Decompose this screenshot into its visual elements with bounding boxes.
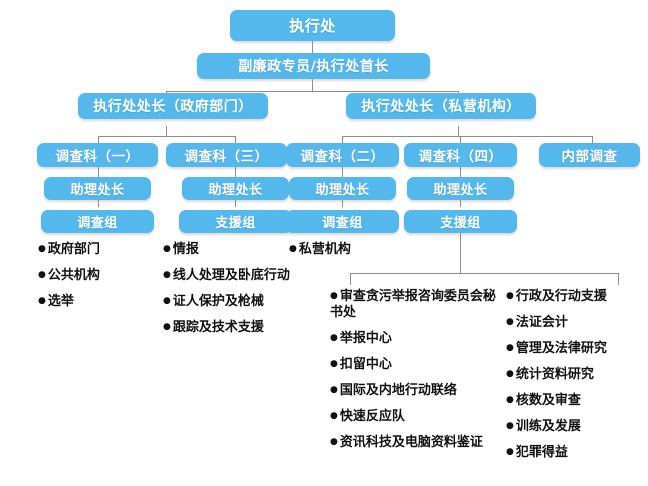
connector-root-to-deputy	[312, 41, 313, 53]
list-item: 行政及行动支援	[506, 288, 646, 305]
list-item: 犯罪得益	[506, 444, 646, 461]
list-item: 管理及法律研究	[506, 340, 646, 357]
list-item: 线人处理及卧底行动	[163, 267, 298, 284]
list-item: 审查贪污举报咨询委员会秘书处	[330, 288, 505, 321]
list-item: 证人保护及枪械	[163, 293, 298, 310]
list-col2: 情报 线人处理及卧底行动 证人保护及枪械 跟踪及技术支援	[163, 241, 298, 345]
connector-dir-gov-stem	[166, 126, 167, 136]
list-item: 扣留中心	[330, 356, 505, 373]
node-support-group-3[interactable]: 支援组	[179, 210, 292, 233]
list-col3: 私营机构	[289, 241, 389, 267]
node-assistant-director-4[interactable]: 助理处长	[407, 177, 514, 200]
list-item: 训练及发展	[506, 418, 646, 435]
list-item: 法证会计	[506, 314, 646, 331]
connector-to-list-col4	[350, 273, 351, 285]
connector-dir-gov-bus	[98, 136, 235, 137]
node-investigation-branch-2[interactable]: 调查科（二）	[286, 143, 399, 167]
node-internal-investigation[interactable]: 内部调查	[539, 143, 640, 167]
list-item: 核数及审查	[506, 392, 646, 409]
org-chart-canvas: 执行处 副廉政专员/执行处首长 执行处处长（政府部门） 执行处处长（私营机构） …	[0, 0, 648, 486]
list-item: 选举	[38, 293, 153, 310]
list-item: 举报中心	[330, 330, 505, 347]
node-deputy-commissioner[interactable]: 副廉政专员/执行处首长	[197, 53, 430, 79]
node-director-government[interactable]: 执行处处长（政府部门）	[78, 93, 268, 119]
list-item: 情报	[163, 241, 298, 258]
list-item: 公共机构	[38, 267, 153, 284]
node-root[interactable]: 执行处	[230, 10, 395, 41]
node-investigation-group-2[interactable]: 调查组	[286, 210, 399, 233]
list-item: 政府部门	[38, 241, 153, 258]
list-item: 统计资料研究	[506, 366, 646, 383]
list-item: 国际及内地行动联络	[330, 382, 505, 399]
connector-deputy-bus	[166, 91, 458, 92]
connector-dir-priv-bus	[342, 136, 592, 137]
node-assistant-director-3[interactable]: 助理处长	[182, 177, 289, 200]
list-item: 资讯科技及电脑资料鉴证	[330, 434, 505, 451]
node-support-group-4[interactable]: 支援组	[404, 210, 517, 233]
connector-dir-priv-stem	[458, 126, 459, 136]
list-col5: 行政及行动支援 法证会计 管理及法律研究 统计资料研究 核数及审查 训练及发展 …	[506, 288, 646, 470]
list-item: 跟踪及技术支援	[163, 319, 298, 336]
connector-deputy-stem	[312, 79, 313, 91]
node-investigation-branch-1[interactable]: 调查科（一）	[37, 143, 158, 167]
list-col1: 政府部门 公共机构 选举	[38, 241, 153, 319]
node-investigation-branch-4[interactable]: 调查科（四）	[404, 143, 517, 167]
node-director-private[interactable]: 执行处处长（私营机构）	[346, 93, 536, 119]
connector-to-list-col5	[618, 273, 619, 285]
list-col4: 审查贪污举报咨询委员会秘书处 举报中心 扣留中心 国际及内地行动联络 快速反应队…	[330, 288, 505, 460]
list-item: 快速反应队	[330, 408, 505, 425]
node-investigation-group-1[interactable]: 调查组	[41, 210, 154, 233]
connector-bottom-bus	[350, 273, 618, 274]
connector-group4-stem	[460, 233, 461, 273]
list-item: 私营机构	[289, 241, 389, 258]
node-assistant-director-1[interactable]: 助理处长	[44, 177, 151, 200]
node-assistant-director-2[interactable]: 助理处长	[289, 177, 396, 200]
node-investigation-branch-3[interactable]: 调查科（三）	[166, 143, 287, 167]
